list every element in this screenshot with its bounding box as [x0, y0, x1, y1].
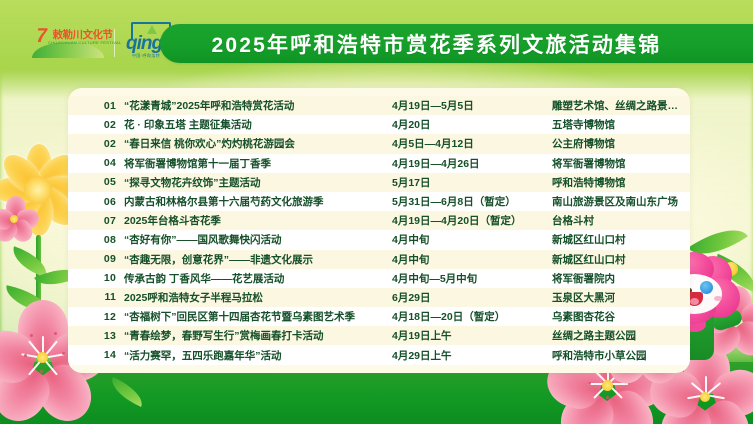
- activity-name: “春日来信 桃你欢心”灼灼桃花游园会: [116, 136, 392, 151]
- activity-place: 丝绸之路主题公园: [552, 328, 690, 343]
- activity-name: “探寻文物花卉纹饰”主题活动: [116, 175, 392, 190]
- activity-place: 新城区红山口村: [552, 232, 690, 247]
- activity-place: 呼和浩特市小草公园: [552, 348, 690, 363]
- logo-left-subtitle: CHILECHUAN CULTURE FESTIVAL: [48, 40, 122, 45]
- activity-table-card: 01“花漾青城”2025年呼和浩特赏花活动4月19日—5月5日雕塑艺术馆、丝绸之…: [68, 88, 690, 373]
- activity-date: 4月29日上午: [392, 348, 552, 363]
- activity-name: “杏趣无限，创意花界”——非遗文化展示: [116, 252, 392, 267]
- activity-date: 4月19日上午: [392, 328, 552, 343]
- activity-number: 06: [68, 196, 116, 208]
- activity-number: 07: [68, 215, 116, 227]
- activity-name: 2025年台格斗杏花季: [116, 213, 392, 228]
- activity-place: 将军衙署院内: [552, 271, 690, 286]
- activity-place: 呼和浩特博物馆: [552, 175, 690, 190]
- table-row: 02花 · 印象五塔 主题征集活动4月20日五塔寺博物馆: [68, 115, 690, 134]
- table-row: 14“活力赛罕，五四乐跑嘉年华”活动4月29日上午呼和浩特市小草公园: [68, 345, 690, 364]
- activity-number: 11: [68, 291, 116, 303]
- table-row: 09“杏趣无限，创意花界”——非遗文化展示4月中旬新城区红山口村: [68, 250, 690, 269]
- table-row: 05“探寻文物花卉纹饰”主题活动5月17日呼和浩特博物馆: [68, 173, 690, 192]
- activity-number: 04: [68, 157, 116, 169]
- seven-grass-logo-icon: 7 敕勒川文化节 CHILECHUAN CULTURE FESTIVAL: [32, 23, 104, 63]
- activity-number: 01: [68, 100, 116, 112]
- table-row: 06内蒙古和林格尔县第十六届芍药文化旅游季5月31日—6月8日（暂定）南山旅游景…: [68, 192, 690, 211]
- activity-name: 传承古韵 丁香风华——花艺展活动: [116, 271, 392, 286]
- activity-name: “杏好有你”——国风歌舞快闪活动: [116, 232, 392, 247]
- activity-date: 4月18日—20日（暂定）: [392, 309, 552, 324]
- activity-date: 4月20日: [392, 117, 552, 132]
- table-row: 13“青春绘梦，春野写生行”赏梅画春打卡活动4月19日上午丝绸之路主题公园: [68, 326, 690, 345]
- activity-place: 台格斗村: [552, 213, 690, 228]
- activity-table-body: 01“花漾青城”2025年呼和浩特赏花活动4月19日—5月5日雕塑艺术馆、丝绸之…: [68, 96, 690, 365]
- activity-number: 14: [68, 349, 116, 361]
- activity-place: 乌素图杏花谷: [552, 309, 690, 324]
- table-row: 02“春日来信 桃你欢心”灼灼桃花游园会4月5日—4月12日公主府博物馆: [68, 134, 690, 153]
- activity-name: 内蒙古和林格尔县第十六届芍药文化旅游季: [116, 194, 392, 209]
- table-row: 10传承古韵 丁香风华——花艺展活动4月中旬—5月中旬将军衙署院内: [68, 269, 690, 288]
- logo-right-word: qing: [126, 33, 162, 55]
- activity-place: 南山旅游景区及南山东广场: [552, 194, 690, 209]
- table-row: 12“杏福树下”回民区第十四届杏花节暨乌素图艺术季4月18日—20日（暂定）乌素…: [68, 307, 690, 326]
- activity-date: 5月17日: [392, 175, 552, 190]
- page-title: 2025年呼和浩特市赏花季系列文旅活动集锦: [212, 29, 702, 59]
- activity-name: “花漾青城”2025年呼和浩特赏花活动: [116, 98, 392, 113]
- table-row: 072025年台格斗杏花季4月19日—4月20日（暂定）台格斗村: [68, 211, 690, 230]
- activity-date: 4月中旬—5月中旬: [392, 271, 552, 286]
- poster-canvas: 7 敕勒川文化节 CHILECHUAN CULTURE FESTIVAL qin…: [0, 0, 753, 424]
- activity-date: 4月中旬: [392, 252, 552, 267]
- table-row: 08“杏好有你”——国风歌舞快闪活动4月中旬新城区红山口村: [68, 230, 690, 249]
- activity-place: 公主府博物馆: [552, 136, 690, 151]
- activity-number: 08: [68, 234, 116, 246]
- activity-number: 05: [68, 176, 116, 188]
- activity-number: 13: [68, 330, 116, 342]
- activity-name: “杏福树下”回民区第十四届杏花节暨乌素图艺术季: [116, 309, 392, 324]
- activity-name: 花 · 印象五塔 主题征集活动: [116, 117, 392, 132]
- activity-number: 09: [68, 253, 116, 265]
- activity-date: 4月5日—4月12日: [392, 136, 552, 151]
- title-banner: 2025年呼和浩特市赏花季系列文旅活动集锦: [160, 24, 753, 63]
- activity-date: 4月中旬: [392, 232, 552, 247]
- poster-header: 7 敕勒川文化节 CHILECHUAN CULTURE FESTIVAL qin…: [0, 0, 753, 72]
- activity-place: 将军衙署博物馆: [552, 156, 690, 171]
- logo-right-tagline: 中国·呼和浩特: [132, 53, 160, 59]
- table-row: 04将军衙署博物馆第十一届丁香季4月19日—4月26日将军衙署博物馆: [68, 154, 690, 173]
- activity-number: 12: [68, 311, 116, 323]
- activity-place: 五塔寺博物馆: [552, 117, 690, 132]
- activity-name: “青春绘梦，春野写生行”赏梅画春打卡活动: [116, 328, 392, 343]
- activity-place: 玉泉区大黑河: [552, 290, 690, 305]
- activity-date: 4月19日—4月26日: [392, 156, 552, 171]
- table-row: 01“花漾青城”2025年呼和浩特赏花活动4月19日—5月5日雕塑艺术馆、丝绸之…: [68, 96, 690, 115]
- activity-date: 4月19日—4月20日（暂定）: [392, 213, 552, 228]
- logo-group: 7 敕勒川文化节 CHILECHUAN CULTURE FESTIVAL qin…: [32, 22, 177, 64]
- activity-place: 新城区红山口村: [552, 252, 690, 267]
- activity-name: 将军衙署博物馆第十一届丁香季: [116, 156, 392, 171]
- activity-number: 02: [68, 119, 116, 131]
- activity-date: 4月19日—5月5日: [392, 98, 552, 113]
- activity-name: “活力赛罕，五四乐跑嘉年华”活动: [116, 348, 392, 363]
- table-row: 112025呼和浩特女子半程马拉松6月29日玉泉区大黑河: [68, 288, 690, 307]
- activity-date: 6月29日: [392, 290, 552, 305]
- activity-number: 02: [68, 138, 116, 150]
- activity-name: 2025呼和浩特女子半程马拉松: [116, 290, 392, 305]
- activity-number: 10: [68, 272, 116, 284]
- activity-place: 雕塑艺术馆、丝绸之路景观大道: [552, 98, 690, 113]
- activity-date: 5月31日—6月8日（暂定）: [392, 194, 552, 209]
